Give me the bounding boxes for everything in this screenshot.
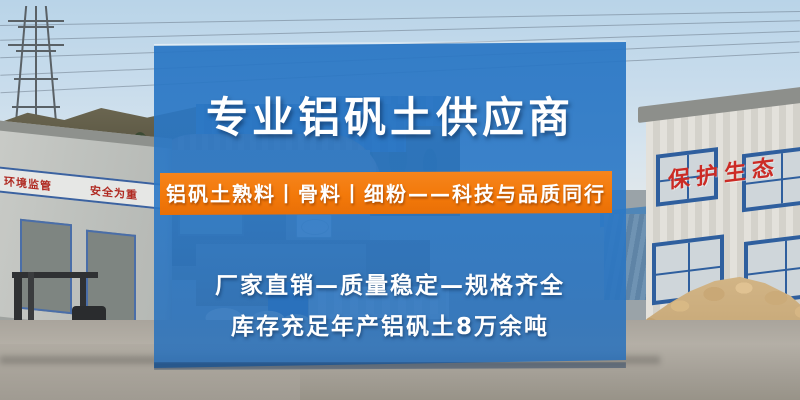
ribbon-text: 铝矾土熟料丨骨料丨细粉——科技与品质同行 (160, 178, 612, 207)
transmission-tower (8, 4, 64, 124)
promo-banner-image: 环境监管 安全为重 LIUGONG (0, 0, 800, 400)
subline-2: 库存充足年产铝矾土8万余吨 (153, 307, 627, 341)
headline-text: 专业铝矾土供应商 (153, 84, 627, 145)
subline-1: 厂家直销—质量稳定—规格齐全 (153, 266, 627, 300)
